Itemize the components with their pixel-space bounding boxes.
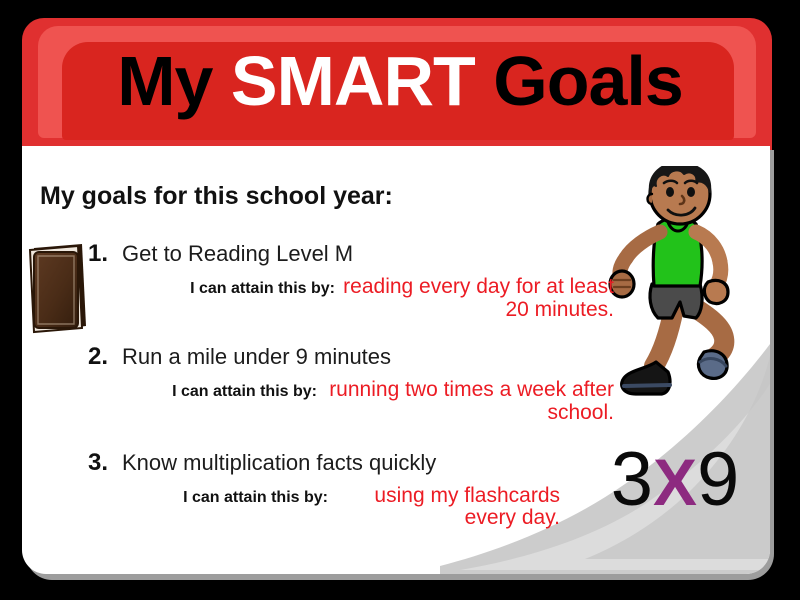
goal-1-number: 1. — [88, 240, 122, 268]
goal-3-attain-row: I can attain this by: using my flashcard… — [88, 485, 618, 530]
goal-2-text: Run a mile under 9 minutes — [122, 344, 391, 370]
math-right-factor: 9 — [697, 437, 739, 522]
goal-3-attain-label: I can attain this by: — [183, 489, 335, 507]
goal-item-1: 1. Get to Reading Level M I can attain t… — [88, 240, 618, 321]
goal-3-line: 3. Know multiplication facts quickly — [88, 449, 618, 477]
goals-list: 1. Get to Reading Level M I can attain t… — [88, 240, 618, 530]
goal-1-text: Get to Reading Level M — [122, 241, 353, 267]
goal-item-3: 3. Know multiplication facts quickly I c… — [88, 449, 618, 530]
page-title: My SMART Goals — [0, 46, 800, 116]
page-subheading: My goals for this school year: — [40, 182, 393, 211]
goal-1-line: 1. Get to Reading Level M — [88, 240, 618, 268]
goal-3-text: Know multiplication facts quickly — [122, 450, 436, 476]
goal-1-attain-label: I can attain this by: — [190, 280, 342, 298]
title-word-goals: Goals — [475, 42, 683, 120]
running-boy-illustration — [596, 166, 776, 398]
goal-2-line: 2. Run a mile under 9 minutes — [88, 343, 618, 371]
goal-3-attain-value: using my flashcards every day. — [335, 485, 560, 530]
goal-1-attain-value: reading every day for at least 20 minute… — [342, 276, 614, 321]
math-operator-icon: X — [653, 445, 697, 519]
goal-2-number: 2. — [88, 343, 122, 371]
goal-item-2: 2. Run a mile under 9 minutes I can atta… — [88, 343, 618, 424]
book-icon — [24, 242, 90, 334]
title-word-smart: SMART — [231, 42, 475, 120]
goal-2-attain-label: I can attain this by: — [172, 383, 324, 401]
title-word-my: My — [117, 42, 231, 120]
goal-3-number: 3. — [88, 449, 122, 477]
goal-1-attain-row: I can attain this by: reading every day … — [88, 276, 618, 321]
slide-canvas: My SMART Goals My goals for this school … — [0, 0, 800, 600]
goal-2-attain-value: running two times a week after school. — [324, 379, 614, 424]
goal-2-attain-row: I can attain this by: running two times … — [88, 379, 618, 424]
